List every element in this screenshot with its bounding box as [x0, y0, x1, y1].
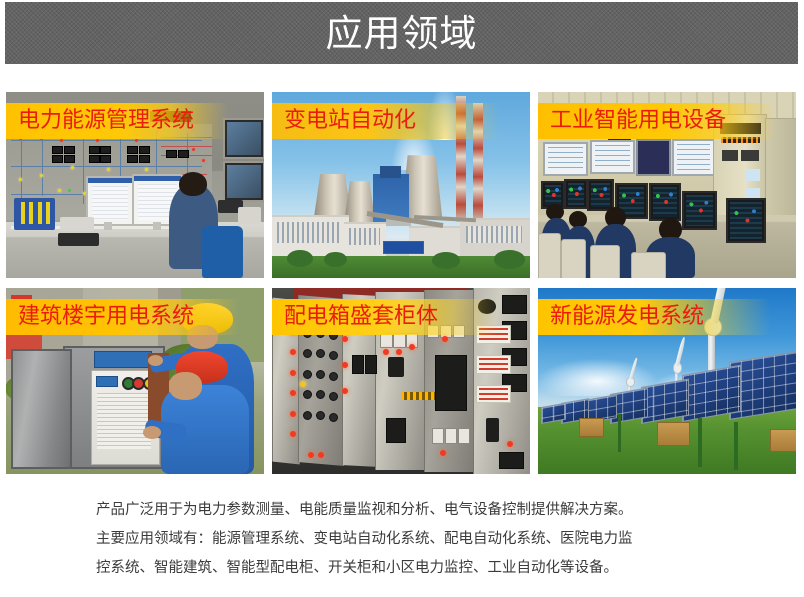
tile-building-power-system[interactable]: 建筑楼宇用电系统	[6, 288, 264, 474]
description-line-3: 控系统、智能建筑、智能型配电柜、开关柜和小区电力监控、工业自动化等设备。	[96, 554, 736, 583]
tile-new-energy-generation-system[interactable]: 新能源发电系统	[538, 288, 796, 474]
tile-power-energy-management-system[interactable]: 电力能源管理系统	[6, 92, 264, 278]
description-line-1: 产品广泛用于为电力参数测量、电能质量监视和分析、电气设备控制提供解决方案。	[96, 496, 736, 525]
description-block: 产品广泛用于为电力参数测量、电能质量监视和分析、电气设备控制提供解决方案。 主要…	[96, 496, 736, 583]
tile-industrial-smart-power-equipment[interactable]: 工业智能用电设备	[538, 92, 796, 278]
photo-industrial-control-room	[538, 92, 796, 278]
tile-substation-automation[interactable]: 变电站自动化	[272, 92, 530, 278]
photo-switchgear-cabinets	[272, 288, 530, 474]
description-line-2: 主要应用领域有：能源管理系统、变电站自动化系统、配电自动化系统、医院电力监	[96, 525, 736, 554]
photo-power-control-room	[6, 92, 264, 278]
photo-wind-solar-farm	[538, 288, 796, 474]
page-title: 应用领域	[326, 15, 478, 52]
photo-power-plant	[272, 92, 530, 278]
application-tiles-grid: 电力能源管理系统	[6, 92, 798, 474]
application-fields-page: 应用领域	[0, 0, 804, 597]
photo-workers-electrical-cabinet	[6, 288, 264, 474]
page-header-banner: 应用领域	[5, 2, 798, 64]
tile-distribution-box-cabinet[interactable]: 配电箱盛套柜体	[272, 288, 530, 474]
